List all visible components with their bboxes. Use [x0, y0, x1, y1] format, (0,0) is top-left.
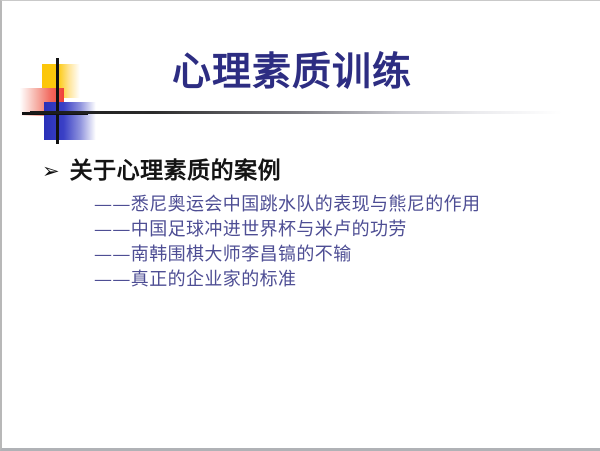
bullet-item: ➢ 关于心理素质的案例	[42, 156, 582, 186]
title-divider-rule	[30, 111, 590, 114]
sub-item-list: ——悉尼奥运会中国跳水队的表现与熊尼的作用 ——中国足球冲进世界杯与米卢的功劳 …	[42, 192, 582, 292]
slide-body: ➢ 关于心理素质的案例 ——悉尼奥运会中国跳水队的表现与熊尼的作用 ——中国足球…	[42, 156, 582, 292]
slide-canvas: 心理素质训练 ➢ 关于心理素质的案例 ——悉尼奥运会中国跳水队的表现与熊尼的作用…	[0, 0, 600, 451]
slide-title: 心理素质训练	[172, 49, 412, 95]
logo-vertical-line-icon	[56, 58, 59, 144]
sub-list-item: ——南韩围棋大师李昌镐的不输	[42, 242, 582, 267]
decorative-logo	[20, 56, 92, 144]
sub-list-item: ——真正的企业家的标准	[42, 267, 582, 292]
sub-list-item: ——悉尼奥运会中国跳水队的表现与熊尼的作用	[42, 192, 582, 217]
logo-blue-square-icon	[44, 102, 96, 140]
bullet-item-label: 关于心理素质的案例	[70, 156, 282, 186]
arrow-bullet-icon: ➢	[42, 156, 60, 186]
sub-list-item: ——中国足球冲进世界杯与米卢的功劳	[42, 217, 582, 242]
